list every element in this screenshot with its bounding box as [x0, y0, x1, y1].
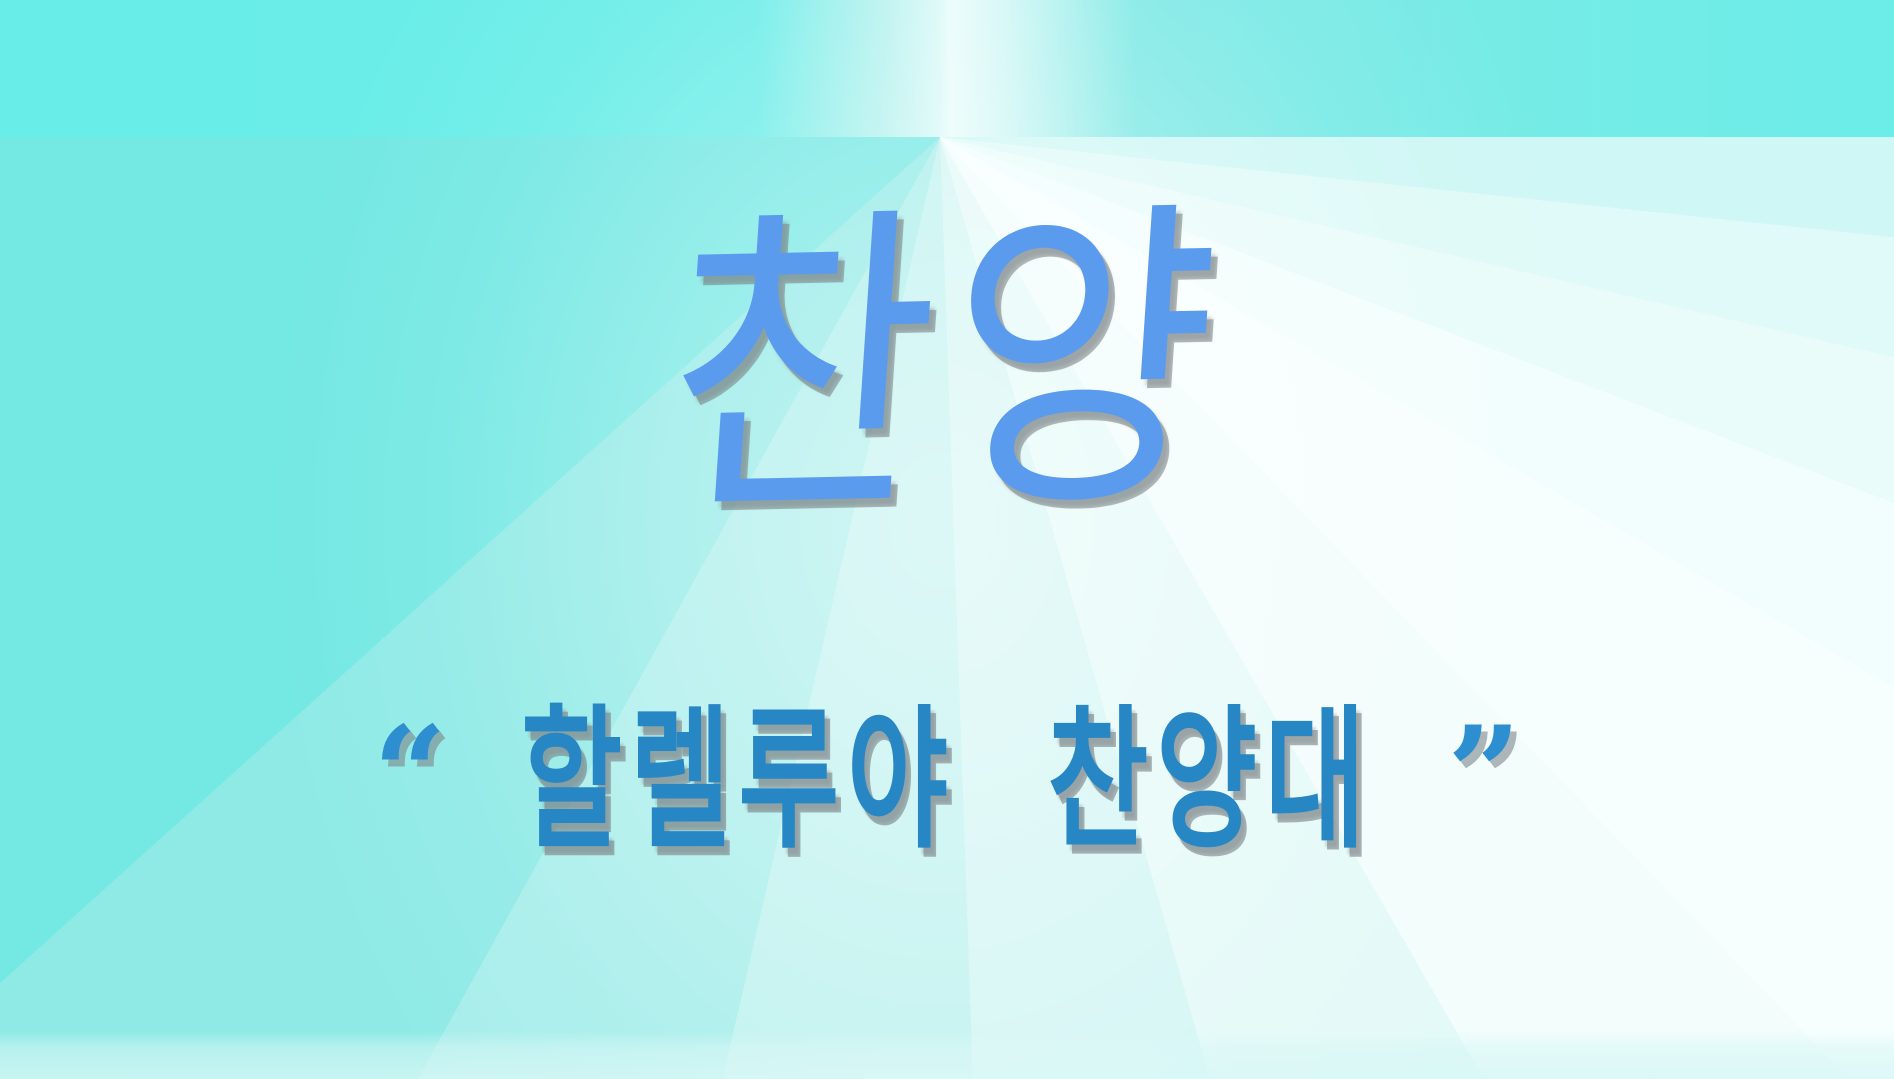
title-slide: 찬양 “ 할렐루야 찬양대 ” [0, 0, 1894, 1079]
page-title: 찬양 [657, 199, 1236, 535]
title-block: 찬양 [0, 222, 1894, 512]
close-quote-icon: ” [1447, 710, 1521, 838]
subtitle-block: “ 할렐루야 찬양대 ” [0, 716, 1894, 844]
slide-content: 찬양 “ 할렐루야 찬양대 ” [0, 0, 1894, 1079]
subtitle-text: 할렐루야 찬양대 [521, 702, 1373, 858]
open-quote-icon: “ [373, 710, 447, 838]
